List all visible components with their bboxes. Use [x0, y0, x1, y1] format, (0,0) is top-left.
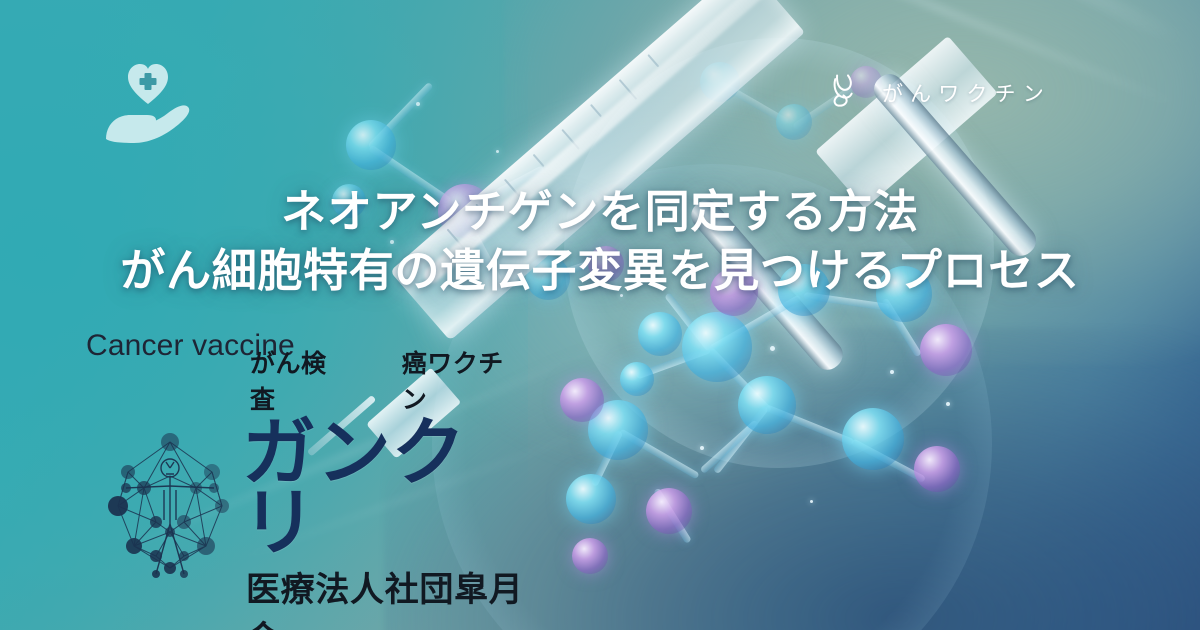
brand-logo: がん検査 癌ワクチン ガンクリ 医療法人社団皐月会	[104, 424, 524, 584]
headline-line-1: ネオアンチゲンを同定する方法	[0, 182, 1200, 241]
banner-canvas: がんワクチン ネオアンチゲンを同定する方法 がん細胞特有の遺伝子変異を見つけるプ…	[0, 0, 1200, 630]
logo-kicker-left: がん検査	[250, 344, 348, 416]
watermark: がんワクチン	[828, 70, 1051, 115]
logo-name: ガンクリ	[242, 418, 524, 557]
hand-holding-heart-icon	[100, 55, 196, 151]
stethoscope-icon	[828, 70, 868, 115]
headline: ネオアンチゲンを同定する方法 がん細胞特有の遺伝子変異を見つけるプロセス	[0, 182, 1200, 301]
logo-kicker: がん検査 癌ワクチン	[242, 344, 524, 416]
logo-kicker-right: 癌ワクチン	[402, 344, 524, 416]
network-human-figure-icon	[104, 428, 236, 580]
logo-organization: 医療法人社団皐月会	[242, 562, 524, 630]
watermark-label: がんワクチン	[882, 78, 1051, 108]
logo-text-block: がん検査 癌ワクチン ガンクリ 医療法人社団皐月会	[242, 344, 524, 630]
headline-line-2: がん細胞特有の遺伝子変異を見つけるプロセス	[0, 241, 1200, 300]
